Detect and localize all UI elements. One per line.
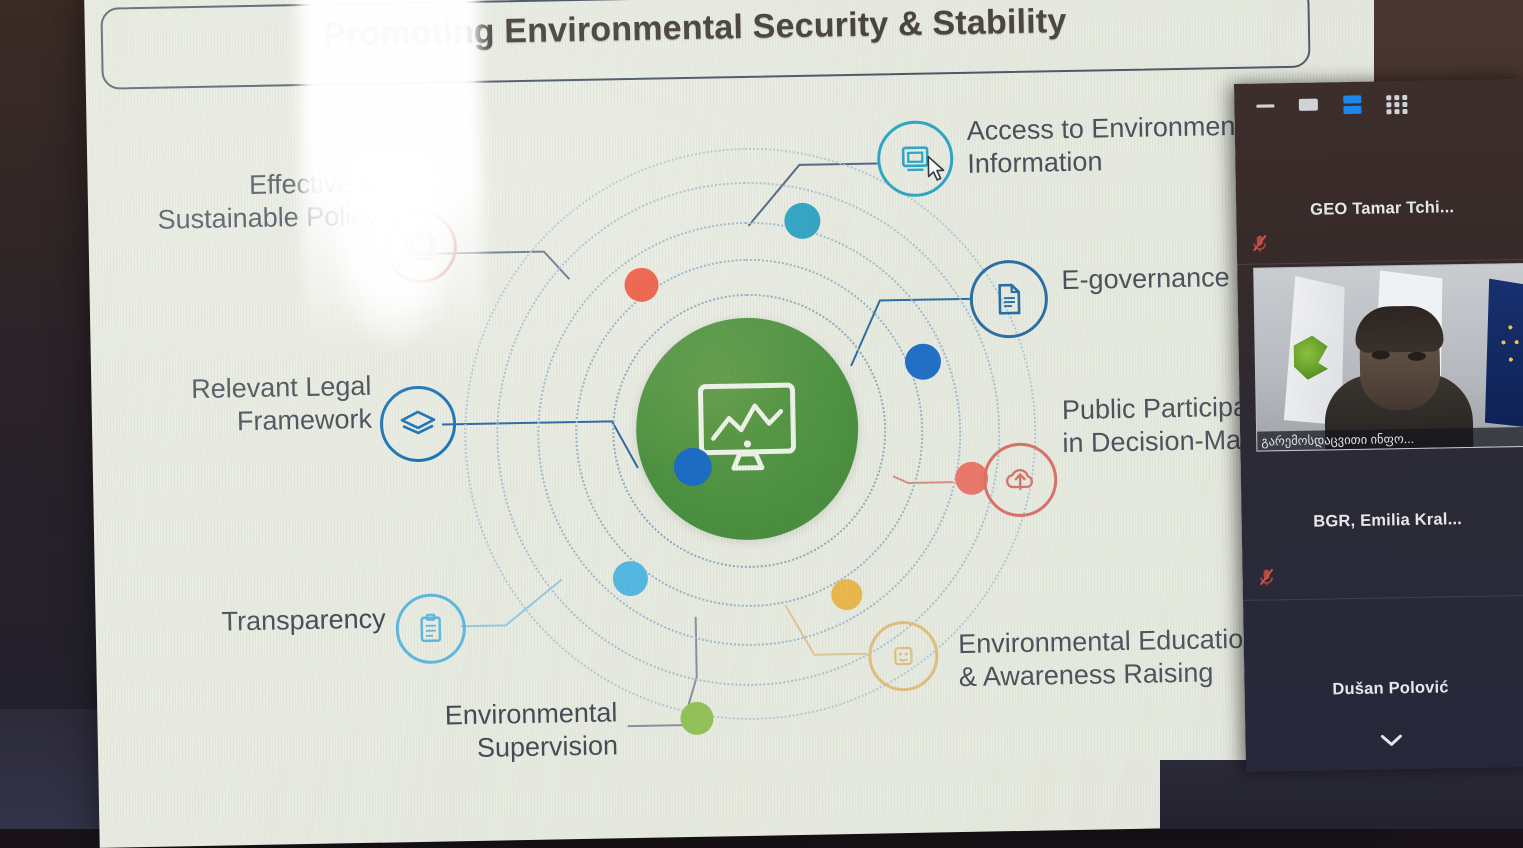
cloud-upload-icon bbox=[1002, 466, 1039, 495]
mic-muted-icon-1 bbox=[1252, 233, 1268, 253]
minimize-icon[interactable] bbox=[1254, 95, 1276, 120]
participant-name-4: Dušan Polović bbox=[1244, 677, 1523, 701]
video-call-toolbar[interactable] bbox=[1234, 79, 1523, 130]
split-view-icon[interactable] bbox=[1340, 94, 1364, 121]
label-transparency: Transparency bbox=[95, 603, 386, 641]
mouse-cursor bbox=[927, 155, 948, 183]
clipboard-icon bbox=[417, 612, 446, 645]
video-call-panel[interactable]: GEO Tamar Tchi... გარემოსდაცვითი bbox=[1234, 79, 1523, 772]
presentation-slide: Promoting Environmental Security & Stabi… bbox=[84, 0, 1390, 848]
participant-video-2[interactable]: გარემოსდაცვითი ინფო... bbox=[1253, 263, 1523, 452]
monitor-icon bbox=[404, 231, 439, 264]
label-relevant-legal-framework: Relevant Legal Framework bbox=[84, 370, 372, 441]
layers-icon bbox=[399, 408, 438, 441]
window-icon[interactable] bbox=[1296, 94, 1320, 119]
participant-name-1: GEO Tamar Tchi... bbox=[1236, 197, 1523, 221]
room-wall-bottom-right bbox=[1160, 760, 1523, 829]
participant-name-3: BGR, Emilia Kral... bbox=[1242, 509, 1523, 533]
environmental-governance-diagram: Effective & Sustainable Policy Relevant … bbox=[84, 0, 1390, 848]
participant-tile-3[interactable]: BGR, Emilia Kral... bbox=[1240, 451, 1523, 600]
flag-eu-stars bbox=[1499, 316, 1522, 378]
grid-view-icon[interactable] bbox=[1384, 93, 1410, 120]
smiley-icon bbox=[889, 642, 918, 671]
chevron-down-icon[interactable] bbox=[1377, 732, 1405, 753]
speaker-hair bbox=[1355, 305, 1444, 353]
video-caption: გარემოსდაცვითი ინფო... bbox=[1257, 427, 1523, 451]
participant-tile-1[interactable]: GEO Tamar Tchi... bbox=[1235, 125, 1523, 264]
document-icon bbox=[994, 282, 1025, 317]
mic-muted-icon-3 bbox=[1258, 567, 1274, 587]
label-environmental-supervision: Environmental Supervision bbox=[287, 696, 618, 768]
label-effective-sustainable-policy: Effective & Sustainable Policy bbox=[84, 167, 379, 239]
